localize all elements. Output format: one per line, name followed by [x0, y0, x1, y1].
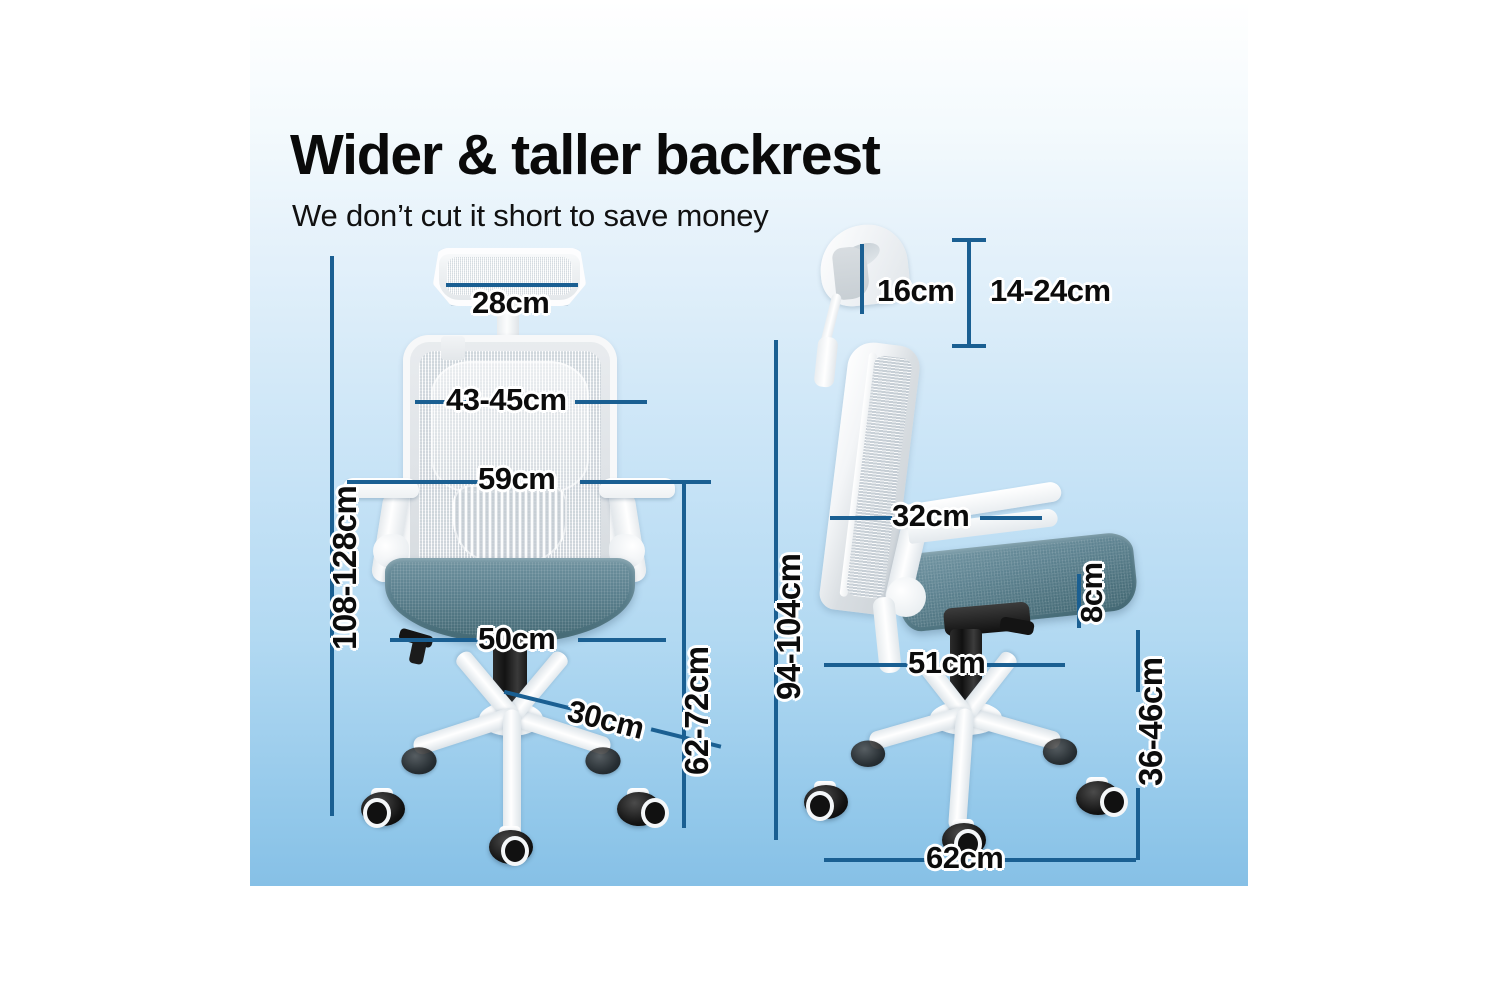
dimension-line-armrest-depth-right [980, 516, 1042, 520]
dimension-label-back-height-side: 94-104cm [770, 554, 808, 700]
caster-tyre [401, 747, 436, 774]
caster-wheel [489, 826, 533, 866]
dimension-label-headrest-width: 28cm [472, 285, 549, 321]
dimension-label-backrest-width: 43-45cm [446, 382, 567, 418]
page-title: Wider & taller backrest [290, 122, 880, 188]
headrest-bracket-lower [813, 336, 838, 388]
dimension-label-seat-height: 36-46cm [1132, 657, 1170, 786]
caster-wheel [851, 737, 885, 768]
dimension-line-seat-depth-left [824, 663, 908, 667]
caster-rim [641, 798, 669, 828]
dimension-label-overall-height: 108-128cm [326, 486, 364, 650]
dimension-cap-bottom [952, 344, 986, 348]
dimension-label-seat-thickness: 8cm [1074, 562, 1110, 623]
caster-wheel [1043, 735, 1077, 766]
caster-wheel [361, 788, 405, 828]
caster-rim [806, 791, 834, 821]
caster-tyre [851, 741, 885, 768]
dimension-line-seat-width-right [578, 638, 666, 642]
dimension-cap-top [952, 238, 986, 242]
product-image-panel: Wider & taller backrest We don’t cut it … [250, 0, 1248, 886]
dimension-label-seat-depth: 51cm [908, 645, 985, 681]
dimension-line-base-width-left [824, 858, 929, 862]
dimension-line-seat-depth-right [987, 663, 1065, 667]
product-dimension-diagram: Wider & taller backrest We don’t cut it … [0, 0, 1500, 1000]
caster-rim [363, 798, 391, 828]
dimension-label-armrest-depth: 32cm [892, 498, 969, 534]
dimension-label-backrest-height: 62-72cm [678, 646, 716, 775]
base-leg [503, 710, 521, 837]
dimension-label-base-width: 62cm [926, 840, 1003, 876]
caster-wheel [401, 744, 436, 776]
dimension-line-seat-width-left [390, 638, 492, 642]
chair-front-view [345, 240, 675, 850]
dimension-label-headrest-travel: 14-24cm [990, 273, 1111, 309]
caster-wheel [617, 788, 661, 828]
dimension-label-overall-width: 59cm [478, 461, 555, 497]
caster-tyre [585, 747, 620, 774]
dimension-line-armrest-depth-left [830, 516, 892, 520]
dimension-label-seat-width: 50cm [478, 621, 555, 657]
dimension-label-headrest-depth: 16cm [877, 273, 954, 309]
dimension-line-overall-width-left [347, 480, 478, 484]
caster-rim [1100, 787, 1128, 817]
dimension-line-headrest-travel [967, 240, 971, 348]
dimension-line-overall-width-right [580, 480, 711, 484]
caster-rim [501, 836, 529, 866]
caster-wheel [585, 744, 620, 776]
dimension-line-seat-height-lower [1136, 788, 1140, 860]
caster-wheel [804, 781, 848, 821]
page-subtitle: We don’t cut it short to save money [292, 198, 769, 234]
caster-tyre [1043, 739, 1077, 766]
dimension-line-base-width-right [998, 858, 1136, 862]
caster-wheel [1076, 777, 1120, 817]
dimension-line-backrest-width-right [575, 400, 647, 404]
headrest-mount [441, 336, 465, 360]
dimension-line-headrest-depth [860, 244, 864, 314]
backrest-front [403, 335, 617, 585]
